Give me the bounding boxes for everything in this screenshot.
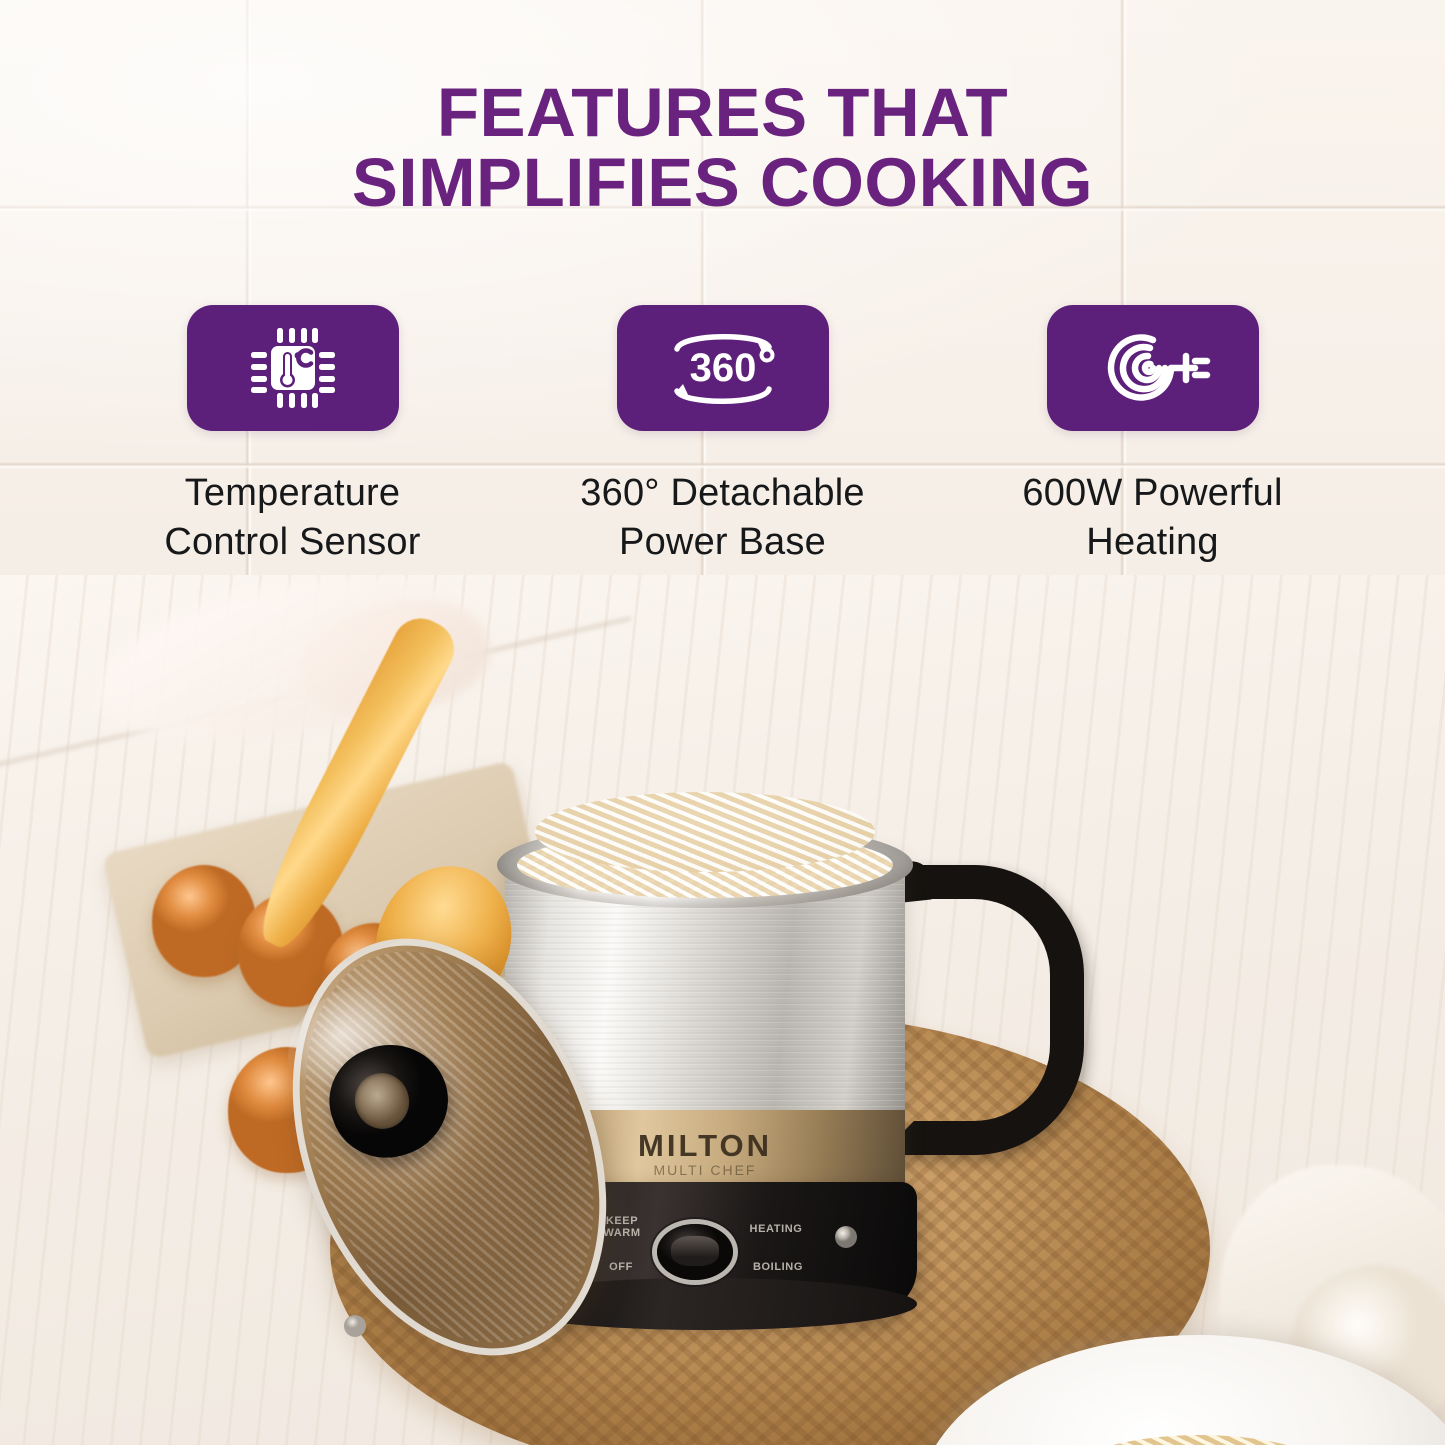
product-feature-infographic: FEATURES THAT SIMPLIFIES COOKING	[0, 0, 1445, 1445]
page-title: FEATURES THAT SIMPLIFIES COOKING	[0, 78, 1445, 219]
feature-label-2: 360° Detachable Power Base	[580, 469, 864, 566]
temperature-chip-icon	[241, 316, 345, 420]
lid-vent-screw	[344, 1315, 366, 1337]
dial-label-off: OFF	[597, 1262, 645, 1274]
power-indicator-light	[835, 1226, 857, 1248]
feature-item-360-detachable-power-base: 360 360° Detachable Power Base	[580, 305, 865, 566]
feature-item-temperature-control-sensor: Temperature Control Sensor	[150, 305, 435, 566]
temperature-control-dial[interactable]	[657, 1224, 733, 1280]
headline-line-2: SIMPLIFIES COOKING	[0, 148, 1445, 218]
dial-label-heating: HEATING	[741, 1224, 811, 1236]
feature-badge-3	[1047, 305, 1259, 431]
dial-label-boiling: BOILING	[743, 1262, 813, 1274]
headline-line-1: FEATURES THAT	[437, 74, 1008, 151]
feature-badge-1	[187, 305, 399, 431]
feature-label-1: Temperature Control Sensor	[164, 469, 420, 566]
product-lifestyle-photo: MILTON MULTI CHEF KEEP WARM OFF HEATING …	[0, 575, 1445, 1445]
heating-coil-plug-icon	[1093, 319, 1213, 417]
feature-label-3: 600W Powerful Heating	[1022, 469, 1282, 566]
cooked-rice-mound	[535, 792, 875, 872]
kettle-handle	[880, 865, 1084, 1155]
feature-item-600w-powerful-heating: 600W Powerful Heating	[1010, 305, 1295, 566]
feature-badge-2: 360	[617, 305, 829, 431]
rotation-360-icon: 360	[657, 319, 789, 417]
svg-text:360: 360	[689, 346, 756, 390]
feature-list: Temperature Control Sensor 360	[0, 305, 1445, 566]
